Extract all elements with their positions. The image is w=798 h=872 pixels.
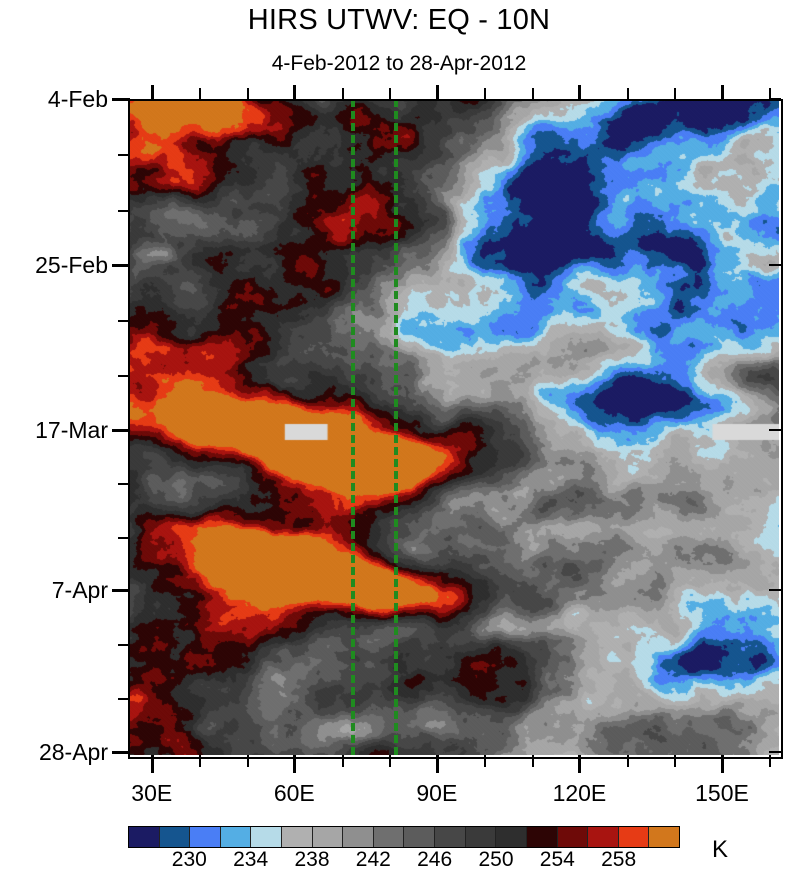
vertical-dashed-line-2 — [394, 99, 398, 755]
x-tick-top-minor — [674, 88, 676, 99]
colorbar-swatch — [435, 827, 466, 847]
x-tick-top-minor — [627, 88, 629, 99]
y-tick-minor — [118, 375, 130, 377]
x-tick-top-minor — [484, 88, 486, 99]
x-tick-top-minor — [199, 88, 201, 99]
colorbar-swatch — [221, 827, 252, 847]
y-tick-minor — [118, 537, 130, 539]
x-tick-minor — [674, 755, 676, 767]
colorbar-swatch — [496, 827, 527, 847]
colorbar-tick-label: 258 — [601, 848, 636, 872]
colorbar-swatch — [313, 827, 344, 847]
x-tick-minor — [199, 755, 201, 767]
x-axis-label: 120E — [553, 780, 607, 807]
colorbar-swatch — [466, 827, 497, 847]
y-tick-major — [112, 98, 130, 101]
x-tick-top-major — [151, 85, 154, 99]
colorbar-swatch — [527, 827, 558, 847]
colorbar-tick-label: 234 — [233, 848, 268, 872]
x-tick-top-major — [578, 85, 581, 99]
contour-field — [128, 99, 779, 755]
colorbar-swatch — [282, 827, 313, 847]
colorbar — [128, 826, 680, 848]
x-tick-top-minor — [247, 88, 249, 99]
y-axis-label: 17-Mar — [35, 417, 108, 444]
x-tick-top-minor — [389, 88, 391, 99]
x-tick-top-minor — [769, 88, 771, 99]
colorbar-tick-label: 246 — [417, 848, 452, 872]
x-tick-top-major — [293, 85, 296, 99]
y-tick-major — [112, 429, 130, 432]
colorbar-swatch — [619, 827, 650, 847]
y-tick-minor — [118, 698, 130, 700]
x-tick-minor — [247, 755, 249, 767]
colorbar-swatch — [374, 827, 405, 847]
colorbar-swatch — [190, 827, 221, 847]
y-tick-major — [112, 589, 130, 592]
hovmoller-plot-area — [128, 99, 779, 755]
colorbar-tick-label: 250 — [478, 848, 513, 872]
y-tick-major — [112, 264, 130, 267]
vertical-dashed-line-1 — [351, 99, 355, 755]
x-tick-minor — [532, 755, 534, 767]
colorbar-swatch — [649, 827, 679, 847]
colorbar-tick-label: 254 — [540, 848, 575, 872]
colorbar-unit-label: K — [712, 836, 728, 864]
x-tick-major — [721, 755, 724, 773]
x-tick-major — [436, 755, 439, 773]
y-tick-right — [769, 264, 781, 266]
y-tick-minor — [118, 644, 130, 646]
x-tick-minor — [342, 755, 344, 767]
y-tick-right — [769, 589, 781, 591]
y-axis-label: 7-Apr — [52, 577, 108, 604]
y-tick-minor — [118, 320, 130, 322]
x-tick-top-major — [721, 85, 724, 99]
colorbar-swatch — [343, 827, 374, 847]
page-title: HIRS UTWV: EQ - 10N — [0, 4, 798, 37]
y-tick-right — [769, 429, 781, 431]
y-tick-minor — [118, 210, 130, 212]
x-tick-minor — [389, 755, 391, 767]
colorbar-swatch — [558, 827, 589, 847]
x-axis-label: 30E — [131, 780, 172, 807]
x-axis-label: 150E — [695, 780, 749, 807]
x-tick-minor — [769, 755, 771, 767]
colorbar-tick-label: 242 — [356, 848, 391, 872]
y-axis-label: 4-Feb — [48, 86, 108, 113]
colorbar-tick-label: 238 — [294, 848, 329, 872]
x-tick-major — [293, 755, 296, 773]
y-tick-minor — [118, 154, 130, 156]
x-tick-minor — [484, 755, 486, 767]
x-tick-top-minor — [532, 88, 534, 99]
x-tick-top-major — [436, 85, 439, 99]
y-axis-label: 28-Apr — [39, 739, 108, 766]
x-axis-label: 60E — [274, 780, 315, 807]
x-tick-major — [151, 755, 154, 773]
x-tick-major — [578, 755, 581, 773]
colorbar-swatch — [251, 827, 282, 847]
y-axis-label: 25-Feb — [35, 252, 108, 279]
x-tick-minor — [627, 755, 629, 767]
x-tick-top-minor — [342, 88, 344, 99]
colorbar-swatch — [404, 827, 435, 847]
colorbar-tick-label: 230 — [172, 848, 207, 872]
colorbar-swatch — [588, 827, 619, 847]
y-tick-right — [769, 751, 781, 753]
x-axis-label: 90E — [416, 780, 457, 807]
y-tick-major — [112, 751, 130, 754]
y-tick-minor — [118, 483, 130, 485]
colorbar-swatch — [160, 827, 191, 847]
page-subtitle: 4-Feb-2012 to 28-Apr-2012 — [0, 52, 798, 76]
colorbar-swatch — [129, 827, 160, 847]
